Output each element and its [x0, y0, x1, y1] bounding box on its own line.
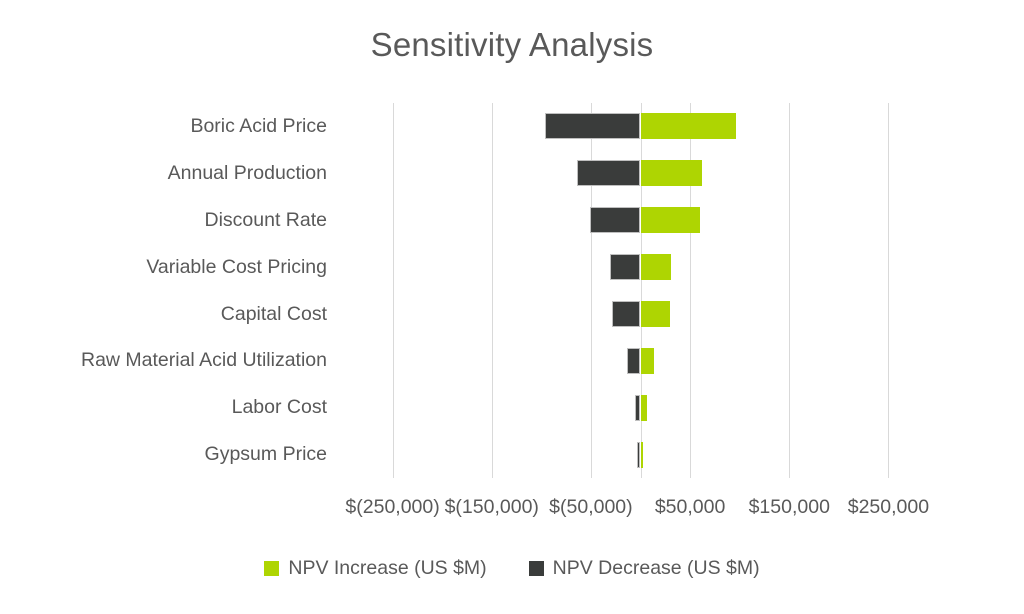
x-tick-label: $(50,000): [549, 496, 632, 519]
legend-label: NPV Increase (US $M): [288, 557, 486, 580]
bar-increase[interactable]: [641, 301, 670, 327]
x-tick-label: $(150,000): [445, 496, 539, 519]
legend-item[interactable]: NPV Decrease (US $M): [529, 557, 760, 580]
bar-decrease[interactable]: [612, 301, 641, 327]
category-label: Annual Production: [0, 150, 327, 197]
bar-row: [343, 384, 938, 431]
bar-row: [343, 244, 938, 291]
bar-row: [343, 150, 938, 197]
category-label: Gypsum Price: [0, 431, 327, 478]
bar-row: [343, 431, 938, 478]
bar-decrease[interactable]: [627, 348, 640, 374]
bar-decrease[interactable]: [610, 254, 640, 280]
category-axis-labels: Boric Acid PriceAnnual ProductionDiscoun…: [0, 103, 327, 478]
x-tick-label: $50,000: [655, 496, 726, 519]
bar-row: [343, 337, 938, 384]
category-label: Labor Cost: [0, 384, 327, 431]
bar-increase[interactable]: [641, 113, 737, 139]
bar-decrease[interactable]: [590, 207, 641, 233]
category-label: Variable Cost Pricing: [0, 244, 327, 291]
bar-row: [343, 103, 938, 150]
legend-swatch-icon: [529, 561, 544, 576]
category-label: Raw Material Acid Utilization: [0, 337, 327, 384]
chart-title: Sensitivity Analysis: [0, 26, 1024, 64]
x-tick-label: $150,000: [749, 496, 830, 519]
bar-decrease[interactable]: [545, 113, 641, 139]
bar-increase[interactable]: [641, 442, 644, 468]
category-label: Boric Acid Price: [0, 103, 327, 150]
legend-item[interactable]: NPV Increase (US $M): [264, 557, 486, 580]
category-label: Capital Cost: [0, 291, 327, 338]
bar-increase[interactable]: [641, 254, 671, 280]
plot-area: [343, 103, 938, 478]
bar-rows: [343, 103, 938, 478]
category-label: Discount Rate: [0, 197, 327, 244]
legend-swatch-icon: [264, 561, 279, 576]
chart-legend: NPV Increase (US $M)NPV Decrease (US $M): [0, 557, 1024, 580]
legend-label: NPV Decrease (US $M): [553, 557, 760, 580]
bar-row: [343, 291, 938, 338]
x-tick-label: $(250,000): [345, 496, 439, 519]
bar-row: [343, 197, 938, 244]
bar-increase[interactable]: [641, 207, 701, 233]
bar-increase[interactable]: [641, 160, 703, 186]
value-axis-labels: $(250,000)$(150,000)$(50,000)$50,000$150…: [0, 496, 1024, 528]
bar-increase[interactable]: [641, 395, 647, 421]
bar-increase[interactable]: [641, 348, 654, 374]
x-tick-label: $250,000: [848, 496, 929, 519]
bar-decrease[interactable]: [577, 160, 640, 186]
sensitivity-analysis-chart: Sensitivity Analysis Boric Acid PriceAnn…: [0, 0, 1024, 614]
